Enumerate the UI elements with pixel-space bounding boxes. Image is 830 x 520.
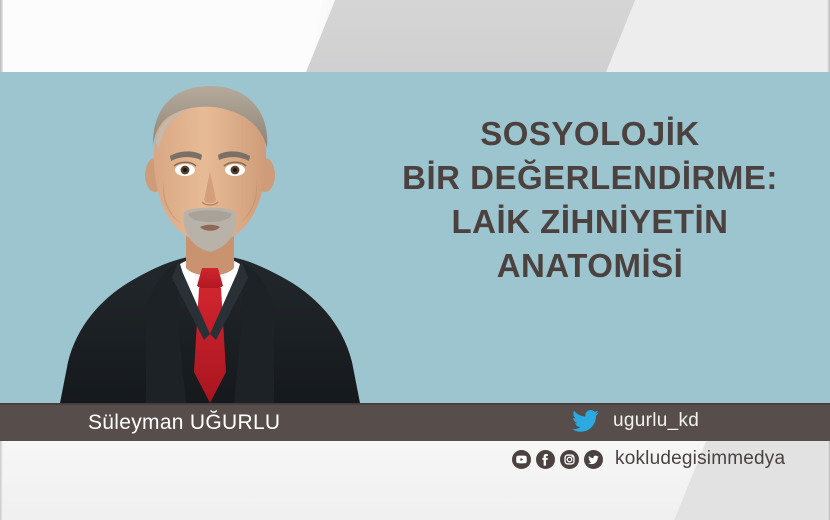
twitter-handle-text: ugurlu_kd [613,410,699,432]
title-line-2: BİR DEĞERLENDİRME: [360,156,820,200]
facebook-icon[interactable] [536,450,555,469]
top-diagonal-light-shape [601,0,830,72]
instagram-icon[interactable] [560,450,579,469]
youtube-icon[interactable] [512,450,531,469]
title-line-1: SOSYOLOJİK [360,112,820,156]
author-bar-top-shade [0,403,830,405]
main-teal-panel: SOSYOLOJİK BİR DEĞERLENDİRME: LAİK ZİHNİ… [0,72,830,403]
title-line-3: LAİK ZİHNİYETİN [360,200,820,244]
top-decorative-band [0,0,830,72]
poster-canvas: SOSYOLOJİK BİR DEĞERLENDİRME: LAİK ZİHNİ… [0,0,830,520]
social-links-row: kokludegisimmedya [512,448,785,470]
twitter-handle-group[interactable]: ugurlu_kd [572,410,699,432]
brand-handle-text: kokludegisimmedya [615,448,785,470]
title-line-4: ANATOMİSİ [360,244,820,288]
author-bar: Süleyman UĞURLU ugurlu_kd [0,403,830,441]
twitter-bird-icon [572,410,599,432]
bottom-left-edge [0,441,3,520]
page-title: SOSYOLOJİK BİR DEĞERLENDİRME: LAİK ZİHNİ… [360,112,820,288]
twitter-icon[interactable] [584,450,603,469]
author-name: Süleyman UĞURLU [88,411,280,435]
avatar [60,72,360,403]
top-left-edge [0,0,3,72]
